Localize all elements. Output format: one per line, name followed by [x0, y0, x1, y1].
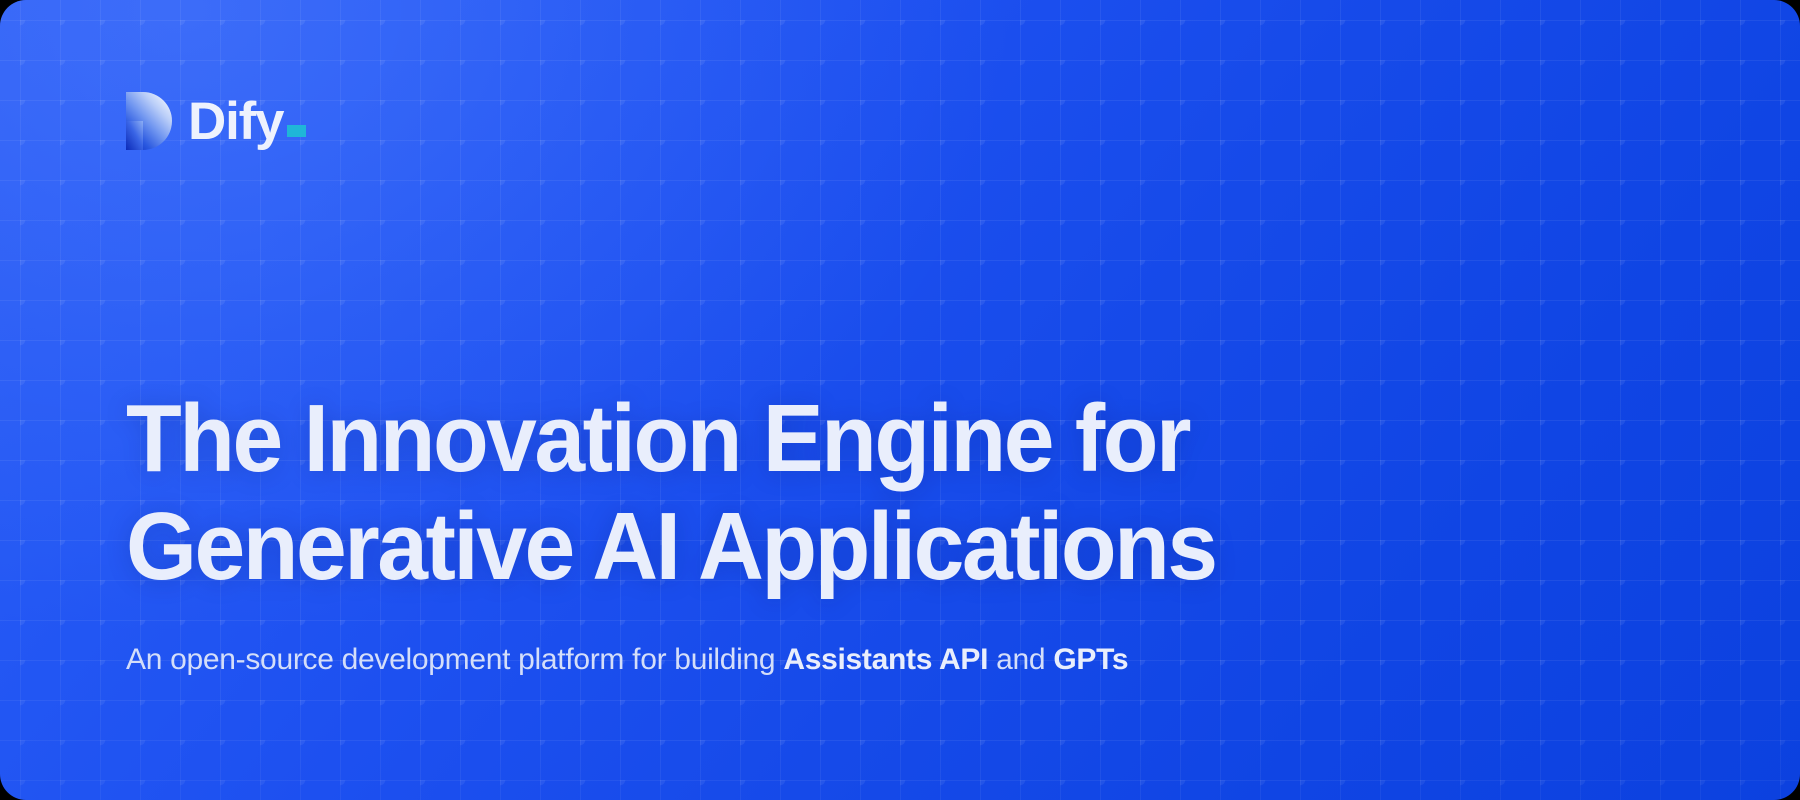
hero-headline-line-1: The Innovation Engine for — [126, 385, 1216, 493]
hero-subtitle-part-2: and — [988, 643, 1053, 676]
hero-subtitle-bold-gpts: GPTs — [1053, 643, 1128, 676]
dify-d-mark-icon — [126, 92, 172, 150]
dify-wordmark-text: Dify — [188, 95, 283, 148]
dify-hero-banner: Dify The Innovation Engine for Generativ… — [0, 0, 1800, 800]
hero-headline-line-2: Generative AI Applications — [126, 493, 1216, 601]
hero-subtitle-bold-assistants-api: Assistants API — [783, 643, 988, 676]
hero-subtitle-part-1: An open-source development platform for … — [126, 643, 783, 676]
dify-wordmark: Dify — [188, 95, 306, 148]
dify-accent-dash-icon — [287, 125, 306, 137]
hero-subtitle: An open-source development platform for … — [126, 640, 1128, 679]
dify-logo-lockup[interactable]: Dify — [126, 92, 306, 150]
hero-headline: The Innovation Engine for Generative AI … — [126, 385, 1216, 600]
